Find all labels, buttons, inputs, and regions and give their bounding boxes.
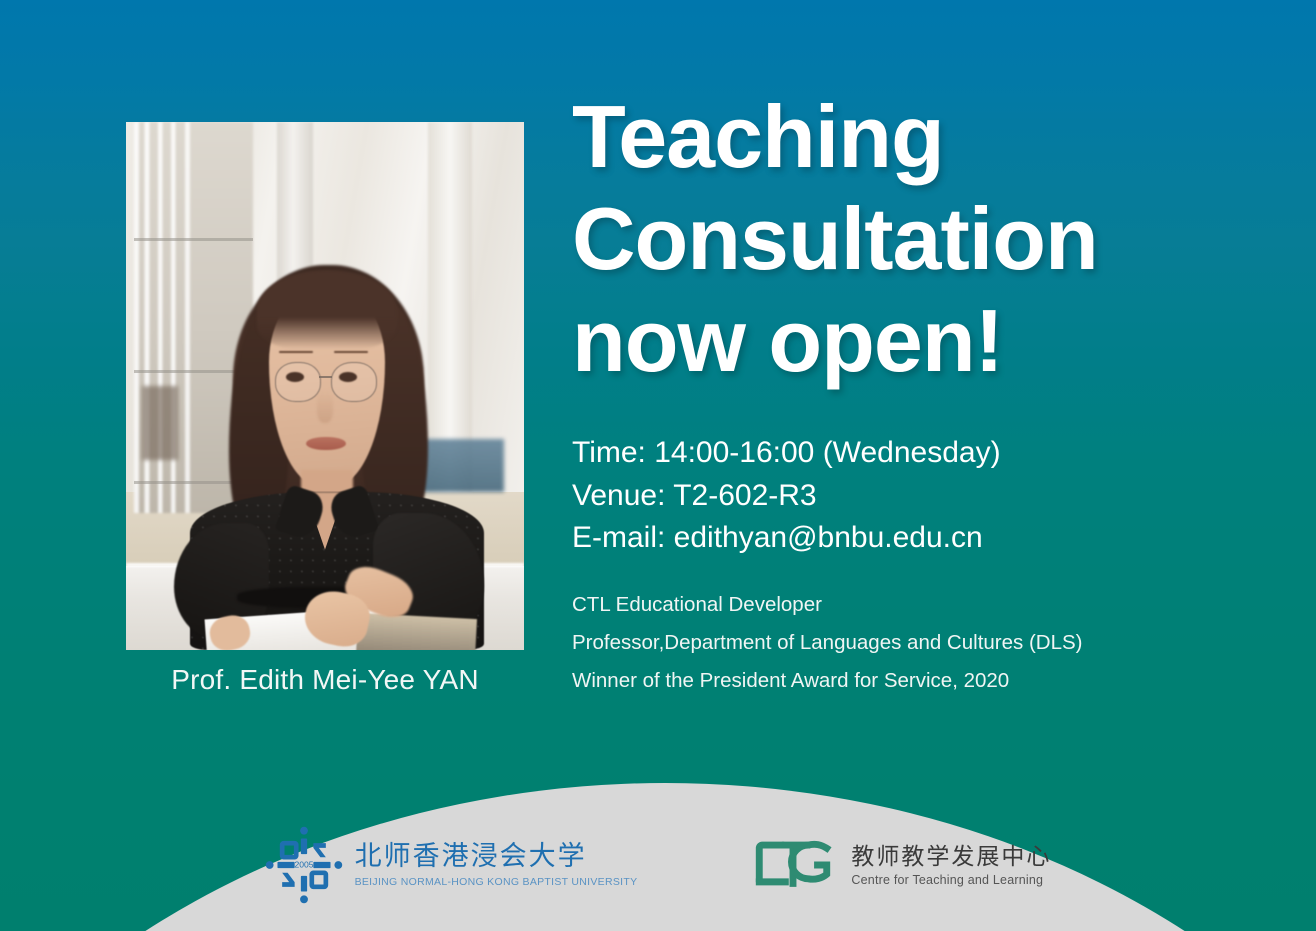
detail-email: E-mail: edithyan@bnbu.edu.cn bbox=[572, 517, 1272, 560]
poster-canvas: Prof. Edith Mei-Yee YAN Teaching Consult… bbox=[0, 0, 1316, 931]
university-logo-block: 2005 北师香港浸会大学 BEIJING NORMAL-HONG KONG B… bbox=[265, 826, 638, 904]
photo-eye-right bbox=[339, 372, 357, 382]
headline-line-2: Consultation bbox=[572, 188, 1272, 290]
footer-logos: 2005 北师香港浸会大学 BEIJING NORMAL-HONG KONG B… bbox=[0, 826, 1316, 904]
photo-eyebrow-right bbox=[334, 351, 368, 353]
university-emblem-icon: 2005 bbox=[265, 826, 343, 904]
photo-mouth bbox=[306, 437, 346, 451]
speaker-credentials: CTL Educational Developer Professor,Depa… bbox=[572, 586, 1272, 700]
ctl-name-en: Centre for Teaching and Learning bbox=[851, 873, 1051, 887]
ctl-name-cn: 教师教学发展中心 bbox=[851, 843, 1051, 869]
photo-fringe bbox=[257, 270, 396, 349]
photo-shelf-line bbox=[134, 238, 253, 241]
photo-eye-left bbox=[286, 372, 304, 382]
photo-pillar bbox=[428, 122, 472, 492]
university-name-cn: 北师香港浸会大学 bbox=[355, 842, 638, 872]
ctl-name-group: 教师教学发展中心 Centre for Teaching and Learnin… bbox=[851, 843, 1051, 886]
open-book-ctl-icon bbox=[747, 834, 839, 896]
ctl-logo-block: 教师教学发展中心 Centre for Teaching and Learnin… bbox=[747, 834, 1051, 896]
photo-nose bbox=[317, 391, 333, 423]
photo-eyeglass-right bbox=[331, 362, 377, 402]
credential-award: Winner of the President Award for Servic… bbox=[572, 662, 1272, 700]
speaker-photo bbox=[126, 122, 524, 650]
headline-line-3: now open! bbox=[572, 290, 1272, 392]
photo-eyeglass-left bbox=[275, 362, 321, 402]
event-details: Time: 14:00-16:00 (Wednesday) Venue: T2-… bbox=[572, 432, 1272, 560]
university-name-en: BEIJING NORMAL-HONG KONG BAPTIST UNIVERS… bbox=[355, 876, 638, 888]
photo-chair bbox=[417, 439, 505, 492]
credential-professorship: Professor,Department of Languages and Cu… bbox=[572, 624, 1272, 662]
emblem-year: 2005 bbox=[294, 859, 313, 869]
detail-venue: Venue: T2-602-R3 bbox=[572, 475, 1272, 518]
page-title: Teaching Consultation now open! bbox=[572, 86, 1272, 392]
detail-time: Time: 14:00-16:00 (Wednesday) bbox=[572, 432, 1272, 475]
photo-eyeglass-bridge bbox=[319, 376, 332, 378]
photo-shelf-object bbox=[142, 386, 178, 460]
speaker-name-caption: Prof. Edith Mei-Yee YAN bbox=[126, 664, 524, 696]
credential-role: CTL Educational Developer bbox=[572, 586, 1272, 624]
university-name-group: 北师香港浸会大学 BEIJING NORMAL-HONG KONG BAPTIS… bbox=[355, 842, 638, 888]
headline-line-1: Teaching bbox=[572, 86, 1272, 188]
content-column: Teaching Consultation now open! Time: 14… bbox=[572, 86, 1272, 700]
photo-open-pages bbox=[356, 613, 477, 650]
photo-eyebrow-left bbox=[279, 351, 313, 353]
